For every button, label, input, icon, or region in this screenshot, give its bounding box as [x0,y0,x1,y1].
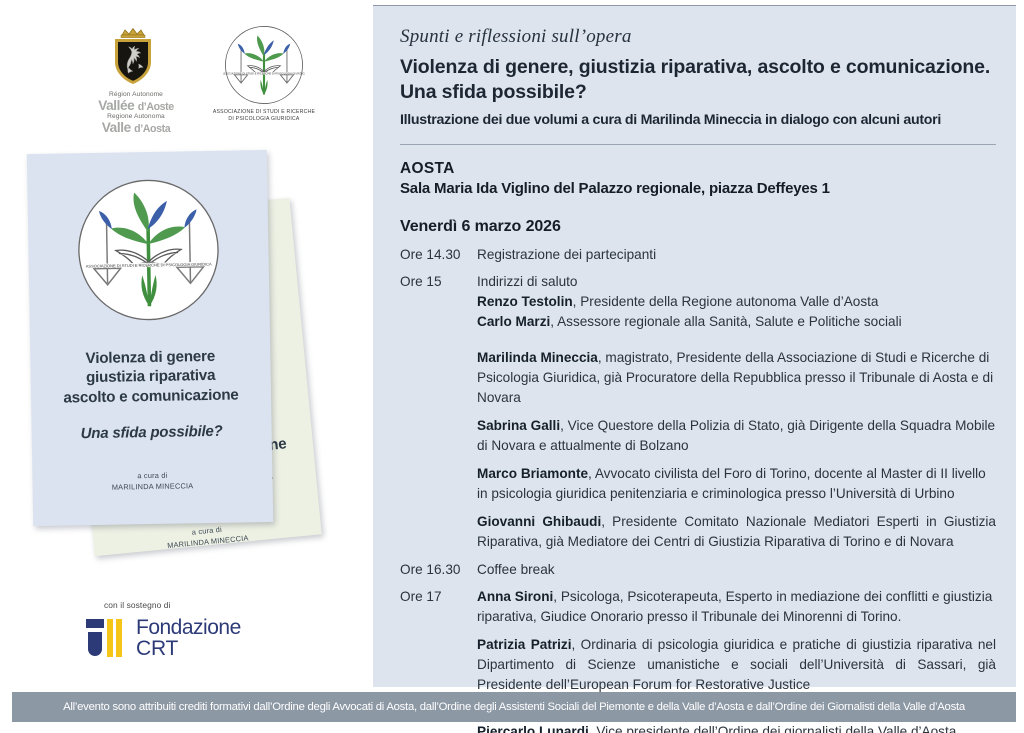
header-divider [400,144,996,145]
title-line-2: Una sfida possibile? [400,80,996,105]
program-text: Coffee break [477,560,996,580]
program-text: Registrazione dei partecipanti [477,245,996,265]
region-logo-line2: Vallée d’Aoste [80,99,192,113]
event-poster: Région Autonome Vallée d’Aoste Regione A… [0,0,1024,733]
program-entry: Registrazione dei partecipanti [477,245,996,265]
book-front-title: Violenza di genere giustizia riparativa … [36,346,265,408]
program-time: Ore 16.30 [400,560,477,580]
program-entry: Anna Sironi, Psicologa, Psicoterapeuta, … [477,587,996,696]
book-cover-front: ASSOCIAZIONE DI STUDI E RICERCHE DI PSIC… [27,150,273,526]
speaker-name: Patrizia Patrizi [477,637,572,652]
speaker-name: Carlo Marzi [477,314,550,329]
fondazione-crt-logo: Fondazione CRT [86,617,306,660]
program-panel: Spunti e riflessioni sull’opera Violenza… [373,5,1016,687]
event-city: AOSTA [400,159,996,179]
association-logo: ASSOCIAZIONE DI STUDI E RICERCHE DI PSIC… [204,24,324,124]
header-subtitle: Illustrazione dei due volumi a cura di M… [400,112,996,129]
program-speaker: Patrizia Patrizi, Ordinaria di psicologi… [477,635,996,695]
svg-text:ASSOCIAZIONE DI STUDI E RICERC: ASSOCIAZIONE DI STUDI E RICERCHE DI PSIC… [223,72,305,75]
program-speaker: Sabrina Galli, Vice Questore della Poliz… [477,416,996,456]
association-caption-line1: ASSOCIAZIONE DI STUDI E RICERCHE [204,109,324,116]
plant-book-scales-icon: ASSOCIAZIONE DI STUDI E RICERCHE DI PSIC… [204,24,324,106]
title-line-1: Violenza di genere, giustizia riparativa… [400,55,996,80]
program-speaker: Renzo Testolin, Presidente della Regione… [477,292,996,312]
program-row: Ore 16.30Coffee break [400,560,996,580]
book-covers: ASSOCIAZIONE DI STUDI E RICERCHE DI PSIC… [18,150,358,580]
program-speaker: Carlo Marzi, Assessore regionale alla Sa… [477,312,996,332]
credits-bar: All’evento sono attribuiti crediti forma… [12,692,1016,722]
coat-of-arms-icon [80,26,192,88]
program-entry: Indirizzi di salutoRenzo Testolin, Presi… [477,272,996,552]
program-schedule: Ore 14.30Registrazione dei partecipantiO… [400,245,996,733]
speaker-name: Marco Briamonte [477,466,588,481]
credits-note: All’evento sono attribuiti crediti forma… [63,701,965,713]
program-speaker: Marco Briamonte, Avvocato civilista del … [477,464,996,504]
speaker-name: Sabrina Galli [477,418,560,433]
book-front-credit: a cura di MARILINDA MINECCIA [38,468,266,494]
header-kicker: Spunti e riflessioni sull’opera [400,26,996,48]
event-venue: Sala Maria Ida Viglino del Palazzo regio… [400,179,996,199]
program-row: Ore 17Anna Sironi, Psicologa, Psicoterap… [400,587,996,696]
program-speaker: Anna Sironi, Psicologa, Psicoterapeuta, … [477,587,996,627]
sponsor-caption: con il sostegno di [104,600,306,610]
speaker-name: Piercarlo Lunardi [477,724,589,733]
crt-mark-icon [86,619,128,657]
crt-word-fondazione: Fondazione [136,617,241,638]
valle-daosta-region-logo: Région Autonome Vallée d’Aoste Regione A… [80,26,192,135]
program-speaker: Giovanni Ghibaudi, Presidente Comitato N… [477,512,996,552]
speaker-name: Marilinda Mineccia [477,350,598,365]
program-time: Ore 17 [400,587,477,607]
program-row: Ore 15Indirizzi di salutoRenzo Testolin,… [400,272,996,552]
crt-word-crt: CRT [136,638,241,659]
association-logo-caption: ASSOCIAZIONE DI STUDI E RICERCHE DI PSIC… [204,109,324,124]
program-row: Ore 14.30Registrazione dei partecipanti [400,245,996,265]
program-entry: Coffee break [477,560,996,580]
logo-row: Région Autonome Vallée d’Aoste Regione A… [72,22,332,142]
program-speaker: Marilinda Mineccia, magistrato, Presiden… [477,348,996,408]
event-date: Venerdì 6 marzo 2026 [400,218,996,236]
crt-wordmark: Fondazione CRT [136,617,241,660]
book-front-subtitle: Una sfida possibile? [38,422,266,443]
book-front-emblem-icon: ASSOCIAZIONE DI STUDI E RICERCHE DI PSIC… [73,175,224,331]
region-logo-caption: Région Autonome Vallée d’Aoste Regione A… [80,92,192,135]
page-title: Violenza di genere, giustizia riparativa… [400,55,996,105]
sponsor-block: con il sostegno di Fondazione CRT [86,600,306,660]
program-time: Ore 14.30 [400,245,477,265]
association-caption-line2: DI PSICOLOGIA GIURIDICA [204,116,324,123]
program-speaker: Piercarlo Lunardi, Vice presidente dell’… [477,722,996,733]
speaker-name: Renzo Testolin [477,294,573,309]
region-logo-line3: Regione Autonoma [80,114,192,121]
speaker-name: Giovanni Ghibaudi [477,514,601,529]
speaker-name: Anna Sironi [477,589,553,604]
region-logo-line4: Valle d’Aosta [80,121,192,135]
program-time: Ore 15 [400,272,477,292]
program-text: Indirizzi di saluto [477,272,996,292]
